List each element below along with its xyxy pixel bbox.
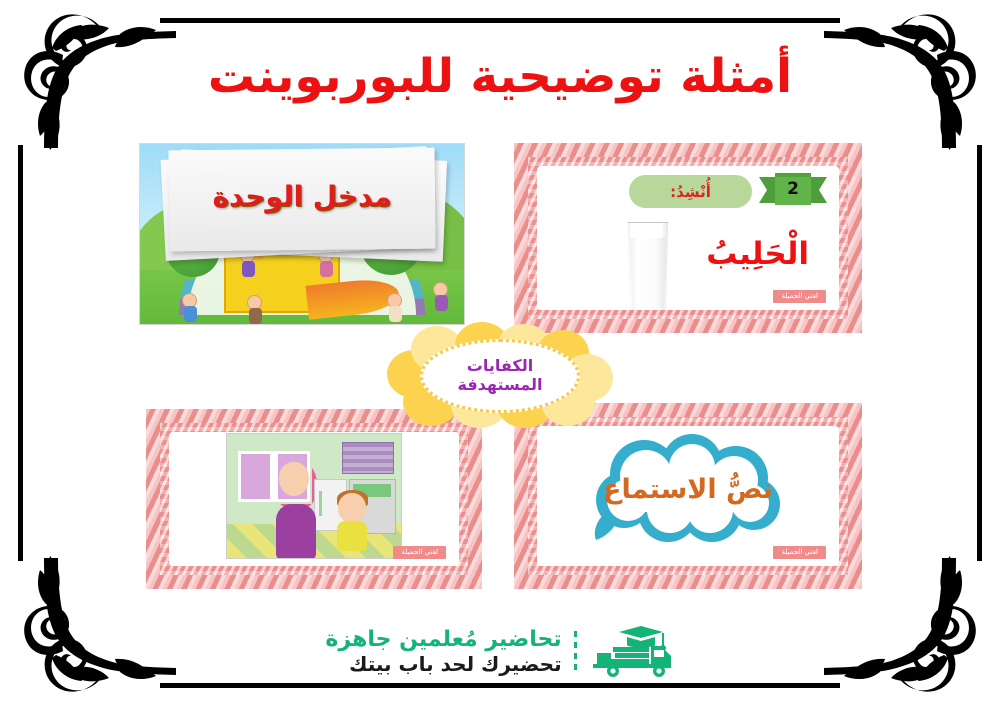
child-figure xyxy=(182,293,197,308)
frame-border-right xyxy=(977,145,982,561)
center-competencies-node: الكفايات المستهدفة xyxy=(385,324,615,428)
poster-canvas: أمثلة توضيحية للبوربوينت مدخل الوحدة أُن… xyxy=(0,0,1000,706)
milk-word-label: الْحَلِيبُ xyxy=(706,236,809,272)
competencies-line-2: المستهدفة xyxy=(458,376,543,395)
brand-text-block: تحاضير مُعلمين جاهزة تحضيرك لحد باب بيتك xyxy=(325,627,561,677)
slide-footer-tag: لغتي الجميلة xyxy=(393,546,446,559)
lesson-number-value: 2 xyxy=(759,173,827,207)
slide-milk-content: أُنْشِدُ: 2 الْحَلِيبُ لغتي الجميلة xyxy=(537,166,839,310)
brand-footer: تحاضير مُعلمين جاهزة تحضيرك لحد باب بيتك xyxy=(0,626,1000,678)
slide-unit-intro[interactable]: مدخل الوحدة xyxy=(139,143,465,325)
glass-milk-fill xyxy=(628,238,668,310)
slide-listening[interactable]: نصُّ الاستماع لغتي الجميلة xyxy=(514,403,862,589)
boy-head xyxy=(338,493,366,523)
child-figure xyxy=(433,282,448,297)
mother-head xyxy=(279,462,309,496)
brand-line-primary: تحاضير مُعلمين جاهزة xyxy=(325,627,561,653)
slide-milk[interactable]: أُنْشِدُ: 2 الْحَلِيبُ لغتي الجميلة xyxy=(514,143,862,333)
milk-glass-icon xyxy=(625,222,671,310)
child-figure xyxy=(247,295,262,310)
brand-line-secondary: تحضيرك لحد باب بيتك xyxy=(325,653,561,677)
frame-border-top xyxy=(160,18,840,23)
frame-border-left xyxy=(18,145,23,561)
mother-body xyxy=(276,504,316,560)
boy-body xyxy=(337,521,367,551)
anshid-prompt-pill: أُنْشِدُ: xyxy=(629,175,752,208)
frame-border-bottom xyxy=(160,683,840,688)
kitchen-illustration xyxy=(226,433,402,559)
unit-intro-heading: مدخل الوحدة xyxy=(140,180,464,213)
listening-heading: نصُّ الاستماع xyxy=(582,434,794,552)
mother-figure xyxy=(269,462,321,546)
slide-footer-tag: لغتي الجميلة xyxy=(773,290,826,303)
speech-cloud-icon: نصُّ الاستماع xyxy=(582,434,794,552)
lesson-number-ribbon: 2 xyxy=(759,173,827,207)
kitchen-cabinet-icon xyxy=(342,442,394,474)
slide-kitchen[interactable]: لغتي الجميلة xyxy=(146,409,482,589)
brand-divider xyxy=(574,631,577,673)
delivery-truck-books-graduation-cap-icon xyxy=(589,626,675,678)
competencies-line-1: الكفايات xyxy=(467,357,533,376)
competencies-oval: الكفايات المستهدفة xyxy=(420,339,580,413)
page-title: أمثلة توضيحية للبوربوينت xyxy=(0,52,1000,101)
slide-footer-tag: لغتي الجميلة xyxy=(773,546,826,559)
slide-kitchen-content: لغتي الجميلة xyxy=(169,432,459,566)
boy-figure xyxy=(331,493,373,548)
slide-listening-content: نصُّ الاستماع لغتي الجميلة xyxy=(537,426,839,566)
